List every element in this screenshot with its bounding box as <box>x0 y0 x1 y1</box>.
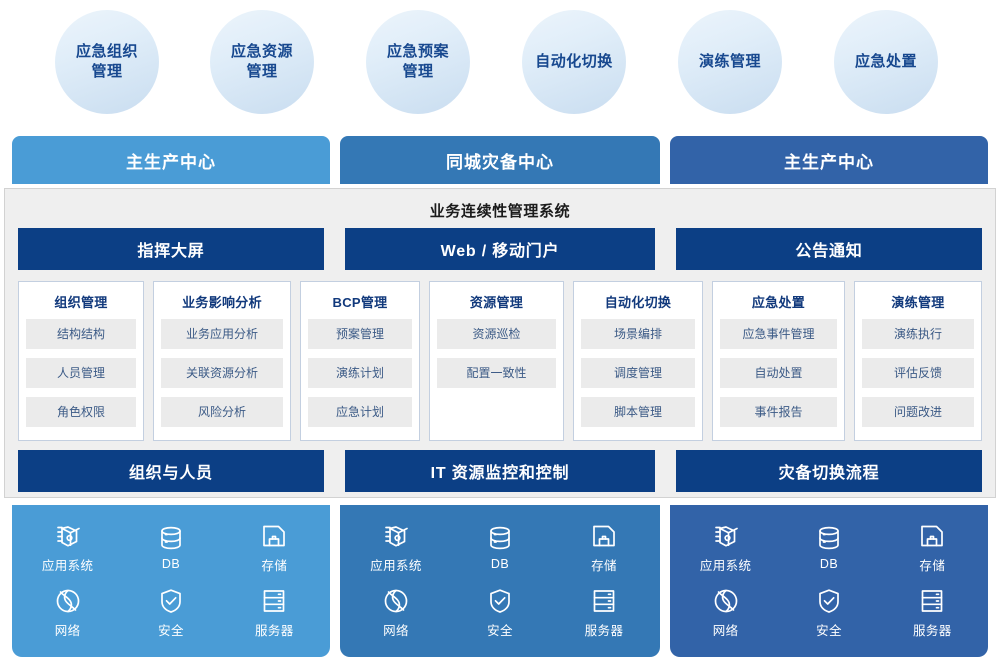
infra-item-label: 存储 <box>591 555 617 574</box>
card-item[interactable]: 业务应用分析 <box>161 319 283 349</box>
bar-it-resource-monitoring-control[interactable]: IT 资源监控和控制 <box>345 450 655 492</box>
card-title: 组织管理 <box>19 292 143 311</box>
bar-label: Web / 移动门户 <box>441 237 560 261</box>
infra-item-database[interactable]: DB <box>815 524 843 571</box>
card-item[interactable]: 自动处置 <box>720 358 837 388</box>
infra-item-storage[interactable]: 存储 <box>260 522 288 574</box>
infra-item-network[interactable]: 网络 <box>54 587 82 639</box>
card-item[interactable]: 关联资源分析 <box>161 358 283 388</box>
bubble-label-line: 应急预案 <box>387 42 449 62</box>
app-system-icon <box>382 522 410 550</box>
storage-icon <box>918 522 946 550</box>
infra-item-label: DB <box>491 557 509 571</box>
app-system-icon <box>54 522 82 550</box>
infra-item-network[interactable]: 网络 <box>382 587 410 639</box>
card-organization-management[interactable]: 组织管理 结构结构 人员管理 角色权限 <box>18 281 144 441</box>
infra-panel-primary: 应用系统 DB 存储 <box>12 505 330 657</box>
bubble-emergency-organization-management[interactable]: 应急组织 管理 <box>55 10 159 114</box>
card-business-impact-analysis[interactable]: 业务影响分析 业务应用分析 关联资源分析 风险分析 <box>153 281 291 441</box>
bubble-emergency-plan-management[interactable]: 应急预案 管理 <box>366 10 470 114</box>
infra-item-server[interactable]: 服务器 <box>585 587 624 639</box>
card-item[interactable]: 演练执行 <box>862 319 974 349</box>
infra-item-security[interactable]: 安全 <box>157 587 185 639</box>
bubble-label-line: 管理 <box>231 62 293 82</box>
card-item[interactable]: 角色权限 <box>26 397 136 427</box>
network-globe-icon <box>712 587 740 615</box>
card-automated-switchover[interactable]: 自动化切换 场景编排 调度管理 脚本管理 <box>573 281 703 441</box>
center-header-label: 主生产中心 <box>784 148 874 173</box>
infra-item-label: 安全 <box>816 620 842 639</box>
center-header-metro-disaster-recovery-center[interactable]: 同城灾备中心 <box>340 136 660 184</box>
app-system-icon <box>712 522 740 550</box>
shield-check-icon <box>815 587 843 615</box>
bar-organization-and-personnel[interactable]: 组织与人员 <box>18 450 324 492</box>
card-title: 资源管理 <box>430 292 563 311</box>
card-item-list: 预案管理 演练计划 应急计划 <box>301 319 419 427</box>
server-rack-icon <box>260 587 288 615</box>
capability-bubble-row: 应急组织 管理 应急资源 管理 应急预案 管理 自动化切换 演练管理 <box>0 0 1000 130</box>
card-item-list: 结构结构 人员管理 角色权限 <box>19 319 143 427</box>
center-header-label: 同城灾备中心 <box>446 148 554 173</box>
infra-item-label: 网络 <box>55 620 81 639</box>
card-title: 应急处置 <box>713 292 844 311</box>
card-item[interactable]: 人员管理 <box>26 358 136 388</box>
card-bcp-management[interactable]: BCP管理 预案管理 演练计划 应急计划 <box>300 281 420 441</box>
infra-item-label: 服务器 <box>585 620 624 639</box>
center-header-label: 主生产中心 <box>126 148 216 173</box>
card-item[interactable]: 风险分析 <box>161 397 283 427</box>
bubble-label-line: 应急资源 <box>231 42 293 62</box>
card-item[interactable]: 应急事件管理 <box>720 319 837 349</box>
card-drill-management[interactable]: 演练管理 演练执行 评估反馈 问题改进 <box>854 281 982 441</box>
infra-item-security[interactable]: 安全 <box>486 587 514 639</box>
bar-label: IT 资源监控和控制 <box>431 459 570 483</box>
infra-panel-tertiary: 应用系统 DB 存储 <box>670 505 988 657</box>
infra-item-label: 应用系统 <box>42 555 94 574</box>
database-icon <box>486 524 514 552</box>
bar-command-big-screen[interactable]: 指挥大屏 <box>18 228 324 270</box>
card-item[interactable]: 资源巡检 <box>437 319 556 349</box>
infra-item-label: 安全 <box>158 620 184 639</box>
shield-check-icon <box>486 587 514 615</box>
infra-item-database[interactable]: DB <box>157 524 185 571</box>
card-item-list: 应急事件管理 自动处置 事件报告 <box>713 319 844 427</box>
server-rack-icon <box>918 587 946 615</box>
card-item-list: 资源巡检 配置一致性 <box>430 319 563 388</box>
bubble-label-line: 管理 <box>76 62 138 82</box>
infra-item-label: DB <box>162 557 180 571</box>
card-item[interactable]: 调度管理 <box>581 358 695 388</box>
bubble-label-line: 自动化切换 <box>535 52 613 72</box>
infra-item-label: 存储 <box>919 555 945 574</box>
card-item[interactable]: 场景编排 <box>581 319 695 349</box>
infra-item-label: DB <box>820 557 838 571</box>
card-item[interactable]: 评估反馈 <box>862 358 974 388</box>
infra-item-network[interactable]: 网络 <box>712 587 740 639</box>
server-rack-icon <box>590 587 618 615</box>
infra-item-label: 网络 <box>383 620 409 639</box>
card-item[interactable]: 问题改进 <box>862 397 974 427</box>
bar-label: 灾备切换流程 <box>779 459 880 483</box>
shield-check-icon <box>157 587 185 615</box>
card-item-list: 业务应用分析 关联资源分析 风险分析 <box>154 319 290 427</box>
card-item[interactable]: 结构结构 <box>26 319 136 349</box>
bar-web-mobile-portal[interactable]: Web / 移动门户 <box>345 228 655 270</box>
system-title: 业务连续性管理系统 <box>5 200 995 221</box>
card-title: 自动化切换 <box>574 292 702 311</box>
infra-item-application-system[interactable]: 应用系统 <box>370 522 422 574</box>
bar-dr-switchover-process[interactable]: 灾备切换流程 <box>676 450 982 492</box>
infra-item-label: 应用系统 <box>700 555 752 574</box>
storage-icon <box>260 522 288 550</box>
infra-item-server[interactable]: 服务器 <box>255 587 294 639</box>
bar-label: 指挥大屏 <box>137 237 204 261</box>
card-item[interactable]: 配置一致性 <box>437 358 556 388</box>
bubble-emergency-disposal[interactable]: 应急处置 <box>834 10 938 114</box>
bubble-label-line: 演练管理 <box>699 52 761 72</box>
infra-item-label: 应用系统 <box>370 555 422 574</box>
network-globe-icon <box>54 587 82 615</box>
card-item-list: 场景编排 调度管理 脚本管理 <box>574 319 702 427</box>
bar-label: 公告通知 <box>795 237 862 261</box>
infra-item-label: 服务器 <box>913 620 952 639</box>
infra-item-application-system[interactable]: 应用系统 <box>700 522 752 574</box>
infra-item-storage[interactable]: 存储 <box>590 522 618 574</box>
network-globe-icon <box>382 587 410 615</box>
center-header-primary-production-center-2[interactable]: 主生产中心 <box>670 136 988 184</box>
infra-item-label: 网络 <box>713 620 739 639</box>
infra-item-database[interactable]: DB <box>486 524 514 571</box>
bar-label: 组织与人员 <box>129 459 213 483</box>
card-item[interactable]: 事件报告 <box>720 397 837 427</box>
bubble-automated-switchover[interactable]: 自动化切换 <box>522 10 626 114</box>
center-header-primary-production-center[interactable]: 主生产中心 <box>12 136 330 184</box>
card-item[interactable]: 应急计划 <box>308 397 412 427</box>
infra-panel-secondary: 应用系统 DB 存储 <box>340 505 660 657</box>
card-title: 演练管理 <box>855 292 981 311</box>
card-title: 业务影响分析 <box>154 292 290 311</box>
bar-announcement-notification[interactable]: 公告通知 <box>676 228 982 270</box>
bubble-label-line: 管理 <box>387 62 449 82</box>
storage-icon <box>590 522 618 550</box>
bubble-label-line: 应急组织 <box>76 42 138 62</box>
card-item[interactable]: 预案管理 <box>308 319 412 349</box>
bubble-drill-management[interactable]: 演练管理 <box>678 10 782 114</box>
database-icon <box>157 524 185 552</box>
infra-item-storage[interactable]: 存储 <box>918 522 946 574</box>
infra-item-label: 安全 <box>487 620 513 639</box>
card-item[interactable]: 脚本管理 <box>581 397 695 427</box>
card-title: BCP管理 <box>301 292 419 311</box>
architecture-diagram: 应急组织 管理 应急资源 管理 应急预案 管理 自动化切换 演练管理 <box>0 0 1000 663</box>
infra-item-security[interactable]: 安全 <box>815 587 843 639</box>
card-item-list: 演练执行 评估反馈 问题改进 <box>855 319 981 427</box>
card-item[interactable]: 演练计划 <box>308 358 412 388</box>
infra-item-application-system[interactable]: 应用系统 <box>42 522 94 574</box>
card-emergency-disposal[interactable]: 应急处置 应急事件管理 自动处置 事件报告 <box>712 281 845 441</box>
bubble-emergency-resource-management[interactable]: 应急资源 管理 <box>210 10 314 114</box>
bubble-label-line: 应急处置 <box>855 52 917 72</box>
infra-item-label: 存储 <box>261 555 287 574</box>
infra-item-server[interactable]: 服务器 <box>913 587 952 639</box>
database-icon <box>815 524 843 552</box>
infra-item-label: 服务器 <box>255 620 294 639</box>
card-resource-management[interactable]: 资源管理 资源巡检 配置一致性 <box>429 281 564 441</box>
